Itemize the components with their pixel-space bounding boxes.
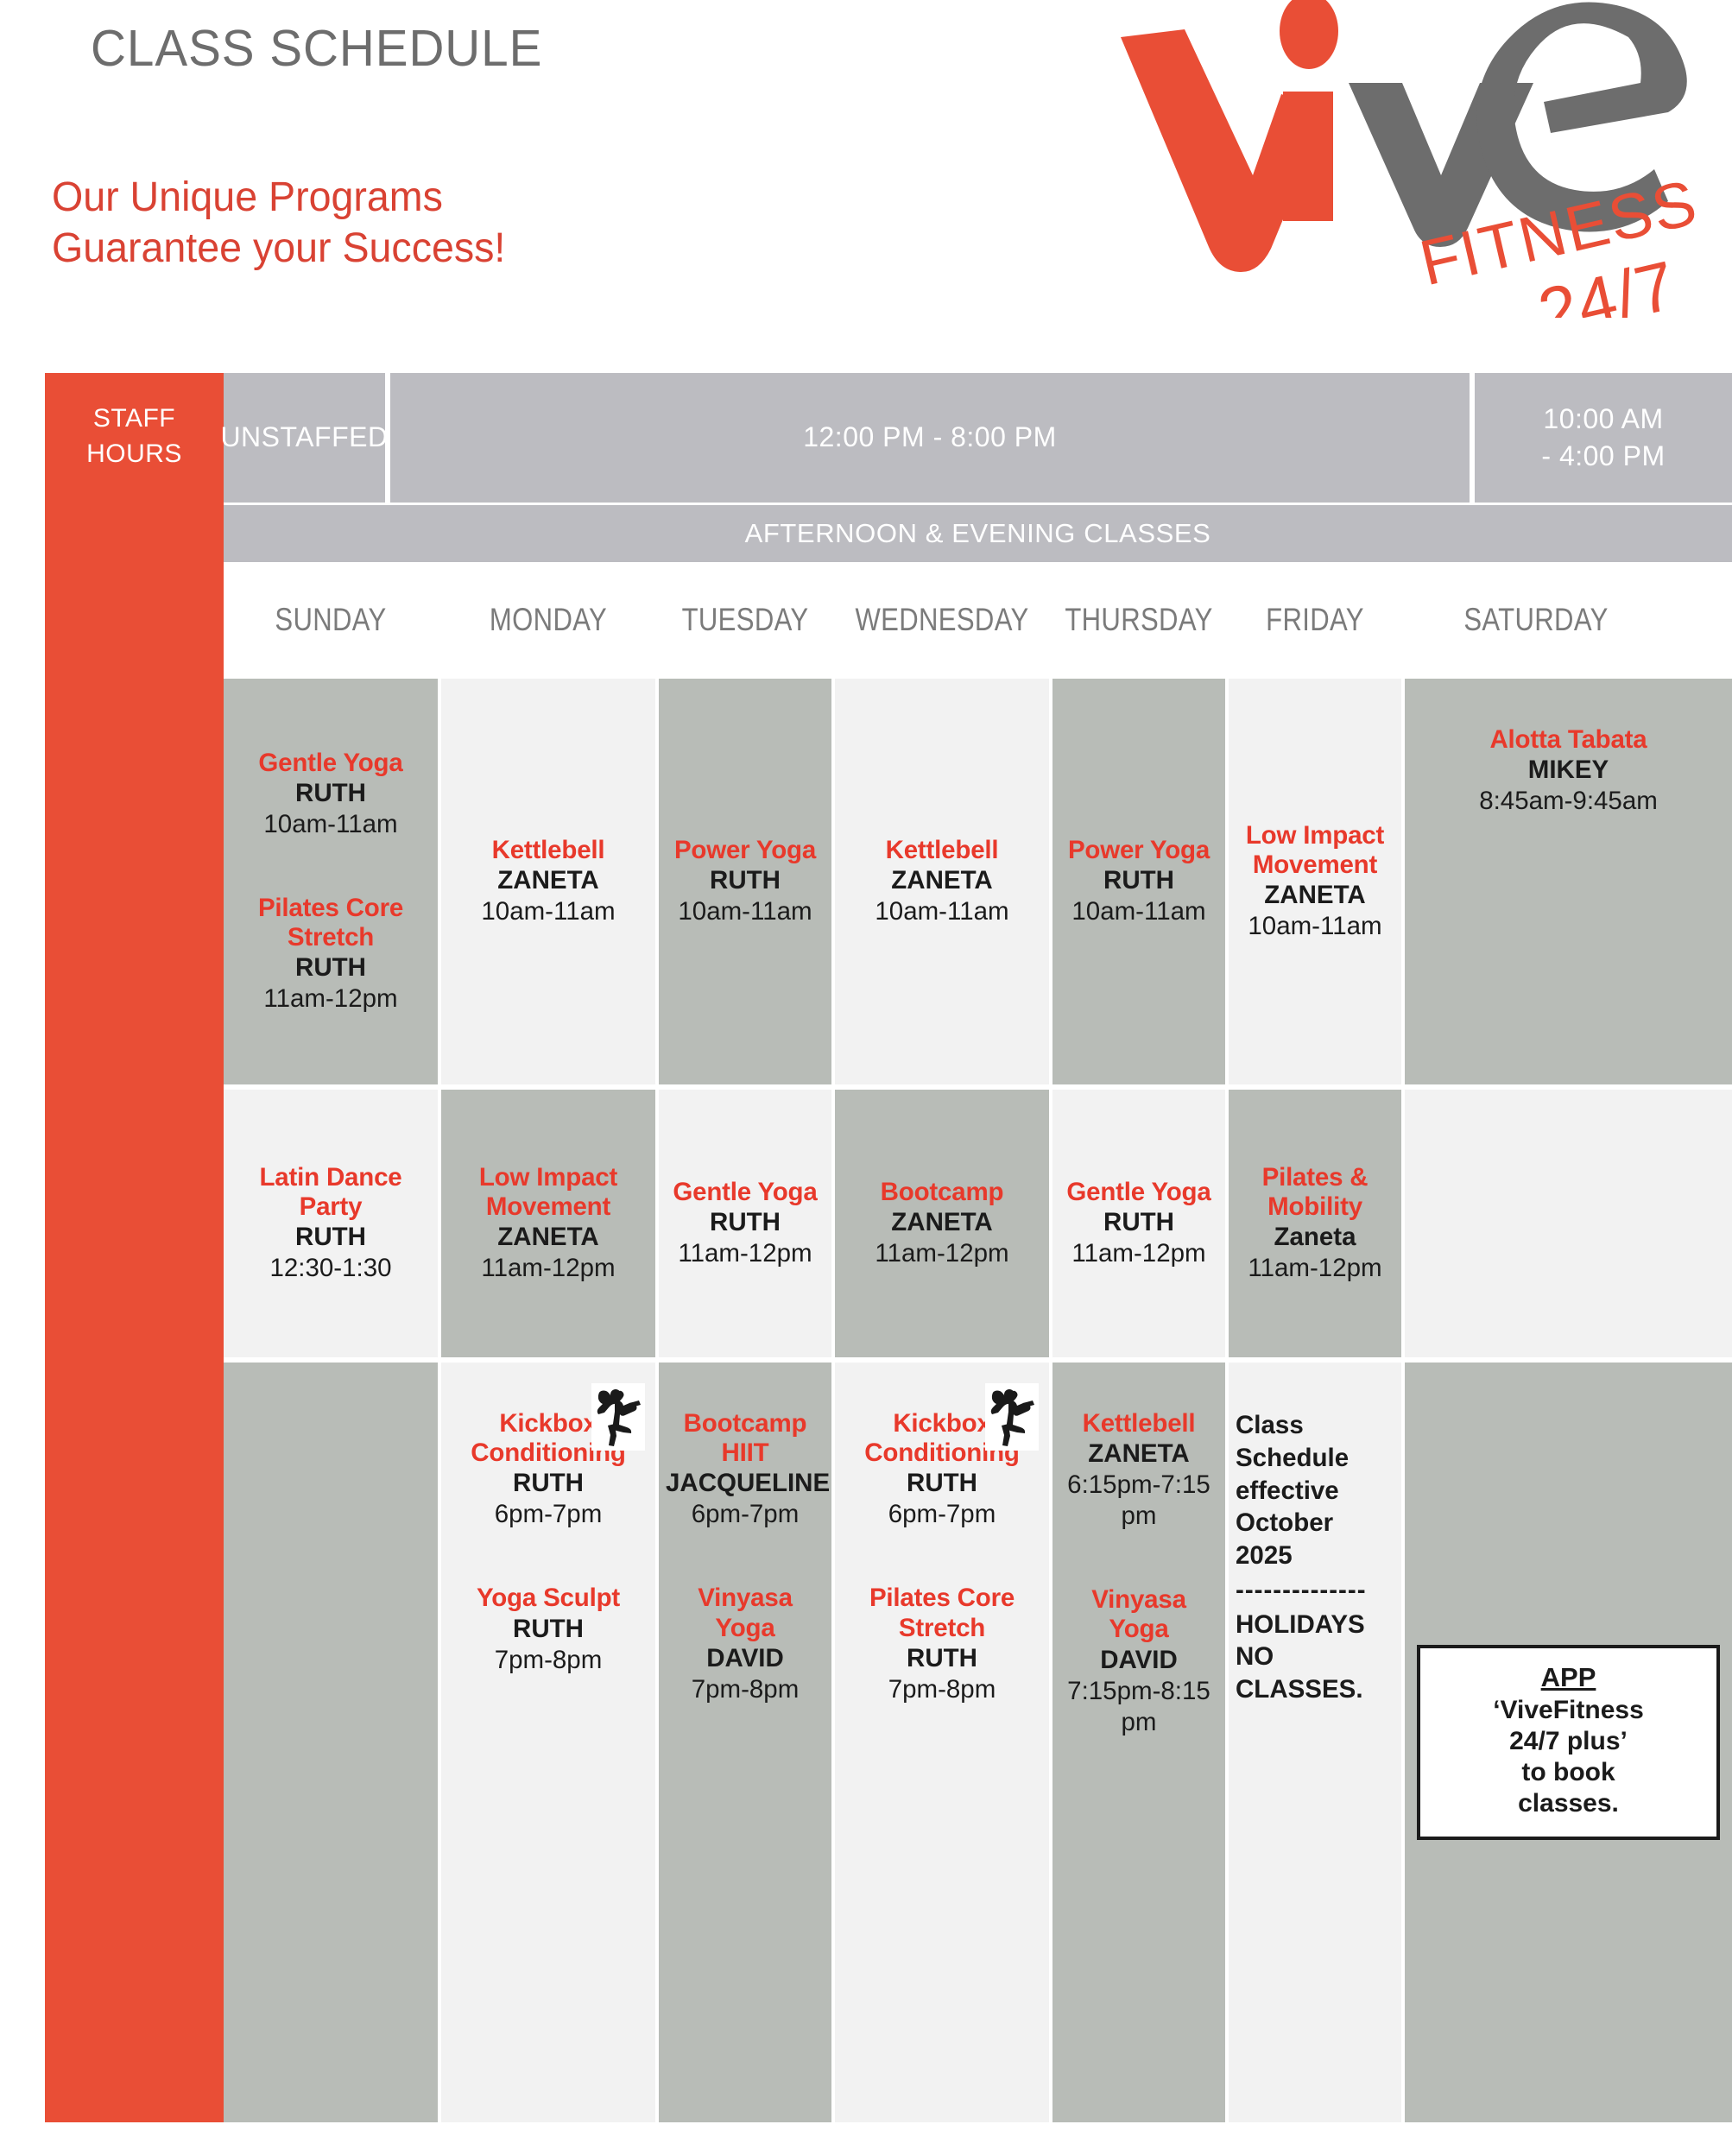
schedule-cell-evening-thursday[interactable]: KettlebellZANETA6:15pm-7:15 pmVinyasa Yo… [1052,1363,1225,2122]
class-entry[interactable]: Alotta TabataMIKEY8:45am-9:45am [1412,725,1725,817]
cell-content: Power YogaRUTH10am-11am [1059,689,1218,1074]
class-time: 11am-12pm [842,1238,1042,1269]
class-entry[interactable]: Gentle YogaRUTH10am-11am [231,749,431,840]
class-instructor: RUTH [842,1643,1042,1674]
kickbox-icon [591,1383,645,1451]
app-box-line-1: ‘ViveFitness [1429,1695,1708,1726]
schedule-cell-evening-friday[interactable]: Class ScheduleeffectiveOctober 2025-----… [1229,1363,1401,2122]
tagline: Our Unique Programs Guarantee your Succe… [52,173,505,274]
class-name: Alotta Tabata [1412,725,1725,755]
staff-hours-row: UNSTAFFED 12:00 PM - 8:00 PM 10:00 AM - … [224,373,1732,503]
class-name-wrap: Kettlebell [448,836,648,865]
staff-hours-line-1: STAFF [45,401,224,436]
class-entry[interactable]: Power YogaRUTH10am-11am [666,836,825,927]
class-name: Kettlebell [1059,1409,1218,1438]
class-name-wrap: Vinyasa Yoga [666,1584,825,1642]
staff-hours-label: STAFF HOURS [45,401,224,472]
cell-content: Class ScheduleeffectiveOctober 2025-----… [1236,1373,1394,2112]
class-name-wrap: Kickbox Conditioning [448,1409,648,1468]
class-name: Kettlebell [448,836,648,865]
class-instructor: ZANETA [842,1207,1042,1238]
schedule-cell-evening-wednesday[interactable]: Kickbox ConditioningRUTH6pm-7pmPilates C… [835,1363,1049,2122]
class-time: 6:15pm-7:15 pm [1059,1470,1218,1532]
class-name: Pilates Core Stretch [231,894,431,952]
schedule-cell-late_morning-friday[interactable]: Pilates & MobilityZaneta11am-12pm [1229,1090,1401,1357]
class-instructor: ZANETA [448,865,648,896]
class-time: 12:30-1:30 [231,1253,431,1284]
cell-content: Alotta TabataMIKEY8:45am-9:45am [1412,689,1725,1074]
app-booking-box[interactable]: APP‘ViveFitness24/7 plus’to bookclasses. [1417,1645,1720,1840]
class-name: Gentle Yoga [231,749,431,778]
day-header-sunday: SUNDAY [215,602,447,645]
class-name-wrap: Low Impact Movement [1236,821,1394,880]
class-name: Low Impact Movement [1236,821,1394,880]
afternoon-evening-banner: AFTERNOON & EVENING CLASSES [224,505,1732,562]
class-instructor: Zaneta [1236,1222,1394,1253]
class-grid: Gentle YogaRUTH10am-11amPilates Core Str… [224,679,1732,2122]
class-name-wrap: Pilates & Mobility [1236,1163,1394,1222]
note-line-4: HOLIDAYS NO [1236,1609,1394,1674]
class-instructor: JACQUELINE [666,1468,825,1499]
class-name-wrap: Yoga Sculpt [448,1584,648,1613]
cell-content: Pilates & MobilityZaneta11am-12pm [1236,1100,1394,1347]
class-instructor: ZANETA [1059,1438,1218,1470]
class-time: 11am-12pm [666,1238,825,1269]
app-box-line-4: classes. [1429,1788,1708,1819]
class-name-wrap: Bootcamp [842,1178,1042,1207]
class-time: 11am-12pm [448,1253,648,1284]
hours-saturday-line-2: - 4:00 PM [1541,438,1665,475]
class-name: Pilates Core Stretch [842,1584,1042,1642]
class-entry[interactable]: KettlebellZANETA6:15pm-7:15 pm [1059,1409,1218,1532]
class-name: Bootcamp [842,1178,1042,1207]
class-entry[interactable]: KettlebellZANETA10am-11am [448,836,648,927]
class-entry[interactable]: Power YogaRUTH10am-11am [1059,836,1218,927]
class-name: Power Yoga [1059,836,1218,865]
class-time: 6pm-7pm [842,1499,1042,1530]
class-instructor: ZANETA [448,1222,648,1253]
cell-content: BootcampZANETA11am-12pm [842,1100,1042,1347]
class-instructor: ZANETA [842,865,1042,896]
class-time: 6pm-7pm [448,1499,648,1530]
schedule-cell-morning-tuesday[interactable]: Power YogaRUTH10am-11am [659,679,831,1084]
class-name-wrap: Latin Dance Party [231,1163,431,1222]
class-entry[interactable]: BootcampZANETA11am-12pm [842,1178,1042,1269]
class-entry[interactable]: Yoga SculptRUTH7pm-8pm [448,1584,648,1675]
cell-content: APP‘ViveFitness24/7 plus’to bookclasses. [1412,1373,1725,2112]
class-time: 7:15pm-8:15 pm [1059,1676,1218,1738]
cell-content: Latin Dance PartyRUTH12:30-1:30 [231,1100,431,1347]
day-header-saturday: SATURDAY [1420,602,1653,645]
app-box-line-3: to book [1429,1757,1708,1788]
hours-saturday-line-1: 10:00 AM [1541,401,1665,438]
schedule-cell-late_morning-sunday[interactable]: Latin Dance PartyRUTH12:30-1:30 [224,1090,438,1357]
class-entry[interactable]: Kickbox ConditioningRUTH6pm-7pm [448,1409,648,1530]
schedule-cell-morning-wednesday[interactable]: KettlebellZANETA10am-11am [835,679,1049,1084]
class-instructor: RUTH [231,1222,431,1253]
cell-content: Gentle YogaRUTH11am-12pm [666,1100,825,1347]
cell-content: Gentle YogaRUTH10am-11amPilates Core Str… [231,689,431,1074]
app-box-line-2: 24/7 plus’ [1429,1726,1708,1757]
note-line-1: Class Schedule [1236,1409,1394,1475]
class-entry[interactable]: Low Impact MovementZANETA11am-12pm [448,1163,648,1284]
cell-content: Kickbox ConditioningRUTH6pm-7pmPilates C… [842,1373,1042,2112]
class-entry[interactable]: Bootcamp HIITJACQUELINE6pm-7pm [666,1409,825,1530]
class-name: Latin Dance Party [231,1163,431,1222]
class-name: Vinyasa Yoga [1059,1585,1218,1644]
class-name: Bootcamp HIIT [666,1409,825,1468]
class-name-wrap: Gentle Yoga [231,749,431,778]
hours-unstaffed: UNSTAFFED [224,373,388,503]
class-time: 11am-12pm [1059,1238,1218,1269]
cell-content: KettlebellZANETA10am-11am [448,689,648,1074]
schedule-cell-late_morning-tuesday[interactable]: Gentle YogaRUTH11am-12pm [659,1090,831,1357]
schedule-cell-evening-saturday[interactable]: APP‘ViveFitness24/7 plus’to bookclasses. [1405,1363,1732,2122]
class-name-wrap: Bootcamp HIIT [666,1409,825,1468]
class-time: 10am-11am [1059,896,1218,927]
class-name-wrap: Power Yoga [666,836,825,865]
class-instructor: RUTH [448,1468,648,1499]
vive-fitness-logo: FITNESS 24/7 [1102,0,1723,318]
class-name: Pilates & Mobility [1236,1163,1394,1222]
class-name-wrap: Kickbox Conditioning [842,1409,1042,1468]
class-instructor: RUTH [666,1207,825,1238]
class-entry[interactable]: Vinyasa YogaDAVID7:15pm-8:15 pm [1059,1585,1218,1737]
class-name-wrap: Pilates Core Stretch [231,894,431,952]
class-entry[interactable]: Latin Dance PartyRUTH12:30-1:30 [231,1163,431,1284]
class-name: Gentle Yoga [666,1178,825,1207]
class-entry[interactable]: KettlebellZANETA10am-11am [842,836,1042,927]
tagline-line-1: Our Unique Programs [52,173,505,224]
class-instructor: RUTH [666,865,825,896]
day-header-friday: FRIDAY [1199,602,1432,645]
class-name-wrap: Gentle Yoga [1059,1178,1218,1207]
note-line-3: October 2025 [1236,1507,1394,1572]
app-box-title: APP [1429,1662,1708,1693]
cell-content: Power YogaRUTH10am-11am [666,689,825,1074]
class-entry[interactable]: Vinyasa YogaDAVID7pm-8pm [666,1584,825,1704]
class-entry[interactable]: Gentle YogaRUTH11am-12pm [1059,1178,1218,1269]
schedule-cell-late_morning-wednesday[interactable]: BootcampZANETA11am-12pm [835,1090,1049,1357]
schedule-note: Class ScheduleeffectiveOctober 2025-----… [1236,1409,1394,1706]
class-name: Gentle Yoga [1059,1178,1218,1207]
class-time: 7pm-8pm [666,1674,825,1705]
class-name-wrap: Gentle Yoga [666,1178,825,1207]
class-time: 8:45am-9:45am [1412,786,1725,817]
note-line-5: CLASSES. [1236,1673,1394,1706]
schedule-cell-evening-monday[interactable]: Kickbox ConditioningRUTH6pm-7pmYoga Scul… [441,1363,655,2122]
class-entry[interactable]: Kickbox ConditioningRUTH6pm-7pm [842,1409,1042,1530]
class-instructor: RUTH [448,1614,648,1645]
tagline-line-2: Guarantee your Success! [52,224,505,275]
schedule-cell-late_morning-saturday[interactable] [1405,1090,1732,1357]
cell-content [231,1373,431,2112]
note-divider: -------------- [1236,1574,1394,1607]
cell-content: Low Impact MovementZANETA11am-12pm [448,1100,648,1347]
class-entry[interactable]: Gentle YogaRUTH11am-12pm [666,1178,825,1269]
schedule-cell-late_morning-monday[interactable]: Low Impact MovementZANETA11am-12pm [441,1090,655,1357]
class-time: 10am-11am [666,896,825,927]
class-entry[interactable]: Low Impact MovementZANETA10am-11am [1236,821,1394,942]
class-instructor: DAVID [1059,1645,1218,1676]
cell-content: Gentle YogaRUTH11am-12pm [1059,1100,1218,1347]
class-name-wrap: Pilates Core Stretch [842,1584,1042,1642]
class-instructor: MIKEY [1412,755,1725,786]
class-name-wrap: Alotta Tabata [1412,725,1725,755]
note-line-2: effective [1236,1475,1394,1508]
class-time: 10am-11am [448,896,648,927]
schedule-cell-morning-monday[interactable]: KettlebellZANETA10am-11am [441,679,655,1084]
class-time: 10am-11am [231,809,431,840]
class-instructor: DAVID [666,1643,825,1674]
class-instructor: ZANETA [1236,880,1394,911]
cell-content: KettlebellZANETA10am-11am [842,689,1042,1074]
class-time: 10am-11am [842,896,1042,927]
class-name-wrap: Kettlebell [842,836,1042,865]
class-instructor: RUTH [1059,865,1218,896]
cell-content [1412,1100,1725,1347]
class-name: Yoga Sculpt [448,1584,648,1613]
cell-content: Bootcamp HIITJACQUELINE6pm-7pmVinyasa Yo… [666,1373,825,2112]
class-name: Kettlebell [842,836,1042,865]
class-name: Power Yoga [666,836,825,865]
class-instructor: RUTH [231,778,431,809]
schedule-cell-evening-tuesday[interactable]: Bootcamp HIITJACQUELINE6pm-7pmVinyasa Yo… [659,1363,831,2122]
hours-weekday: 12:00 PM - 8:00 PM [390,373,1472,503]
class-name-wrap: Power Yoga [1059,836,1218,865]
class-schedule-page: CLASS SCHEDULE Our Unique Programs Guara… [0,0,1732,2156]
class-time: 11am-12pm [1236,1253,1394,1284]
logo-artwork: FITNESS 24/7 [1102,0,1723,318]
class-name-wrap: Low Impact Movement [448,1163,648,1222]
class-instructor: RUTH [842,1468,1042,1499]
schedule-cell-morning-friday[interactable]: Low Impact MovementZANETA10am-11am [1229,679,1401,1084]
class-name: Vinyasa Yoga [666,1584,825,1642]
class-time: 11am-12pm [231,983,431,1015]
class-entry[interactable]: Pilates & MobilityZaneta11am-12pm [1236,1163,1394,1284]
page-title: CLASS SCHEDULE [91,19,542,78]
class-name-wrap: Vinyasa Yoga [1059,1585,1218,1644]
schedule-table: STAFF HOURS MORNING EVENING UNSTAFFED 12… [45,373,1732,2126]
class-instructor: RUTH [1059,1207,1218,1238]
day-headers-row: SUNDAYMONDAYTUESDAYWEDNESDAYTHURSDAYFRID… [224,562,1732,679]
class-time: 6pm-7pm [666,1499,825,1530]
class-entry[interactable]: Pilates Core StretchRUTH11am-12pm [231,894,431,1015]
class-entry[interactable]: Pilates Core StretchRUTH7pm-8pm [842,1584,1042,1704]
kickbox-icon [985,1383,1039,1451]
schedule-cell-morning-sunday[interactable]: Gentle YogaRUTH10am-11amPilates Core Str… [224,679,438,1084]
class-name: Low Impact Movement [448,1163,648,1222]
class-time: 10am-11am [1236,911,1394,942]
class-time: 7pm-8pm [448,1645,648,1676]
class-time: 7pm-8pm [842,1674,1042,1705]
cell-content: KettlebellZANETA6:15pm-7:15 pmVinyasa Yo… [1059,1373,1218,2112]
schedule-cell-morning-saturday[interactable]: Alotta TabataMIKEY8:45am-9:45am [1405,679,1732,1084]
schedule-cell-morning-thursday[interactable]: Power YogaRUTH10am-11am [1052,679,1225,1084]
cell-content: Kickbox ConditioningRUTH6pm-7pmYoga Scul… [448,1373,648,2112]
schedule-cell-late_morning-thursday[interactable]: Gentle YogaRUTH11am-12pm [1052,1090,1225,1357]
schedule-cell-evening-sunday[interactable] [224,1363,438,2122]
class-name-wrap: Kettlebell [1059,1409,1218,1438]
staff-hours-line-2: HOURS [45,436,224,471]
cell-content: Low Impact MovementZANETA10am-11am [1236,689,1394,1074]
hours-saturday: 10:00 AM - 4:00 PM [1475,373,1732,503]
class-instructor: RUTH [231,952,431,983]
